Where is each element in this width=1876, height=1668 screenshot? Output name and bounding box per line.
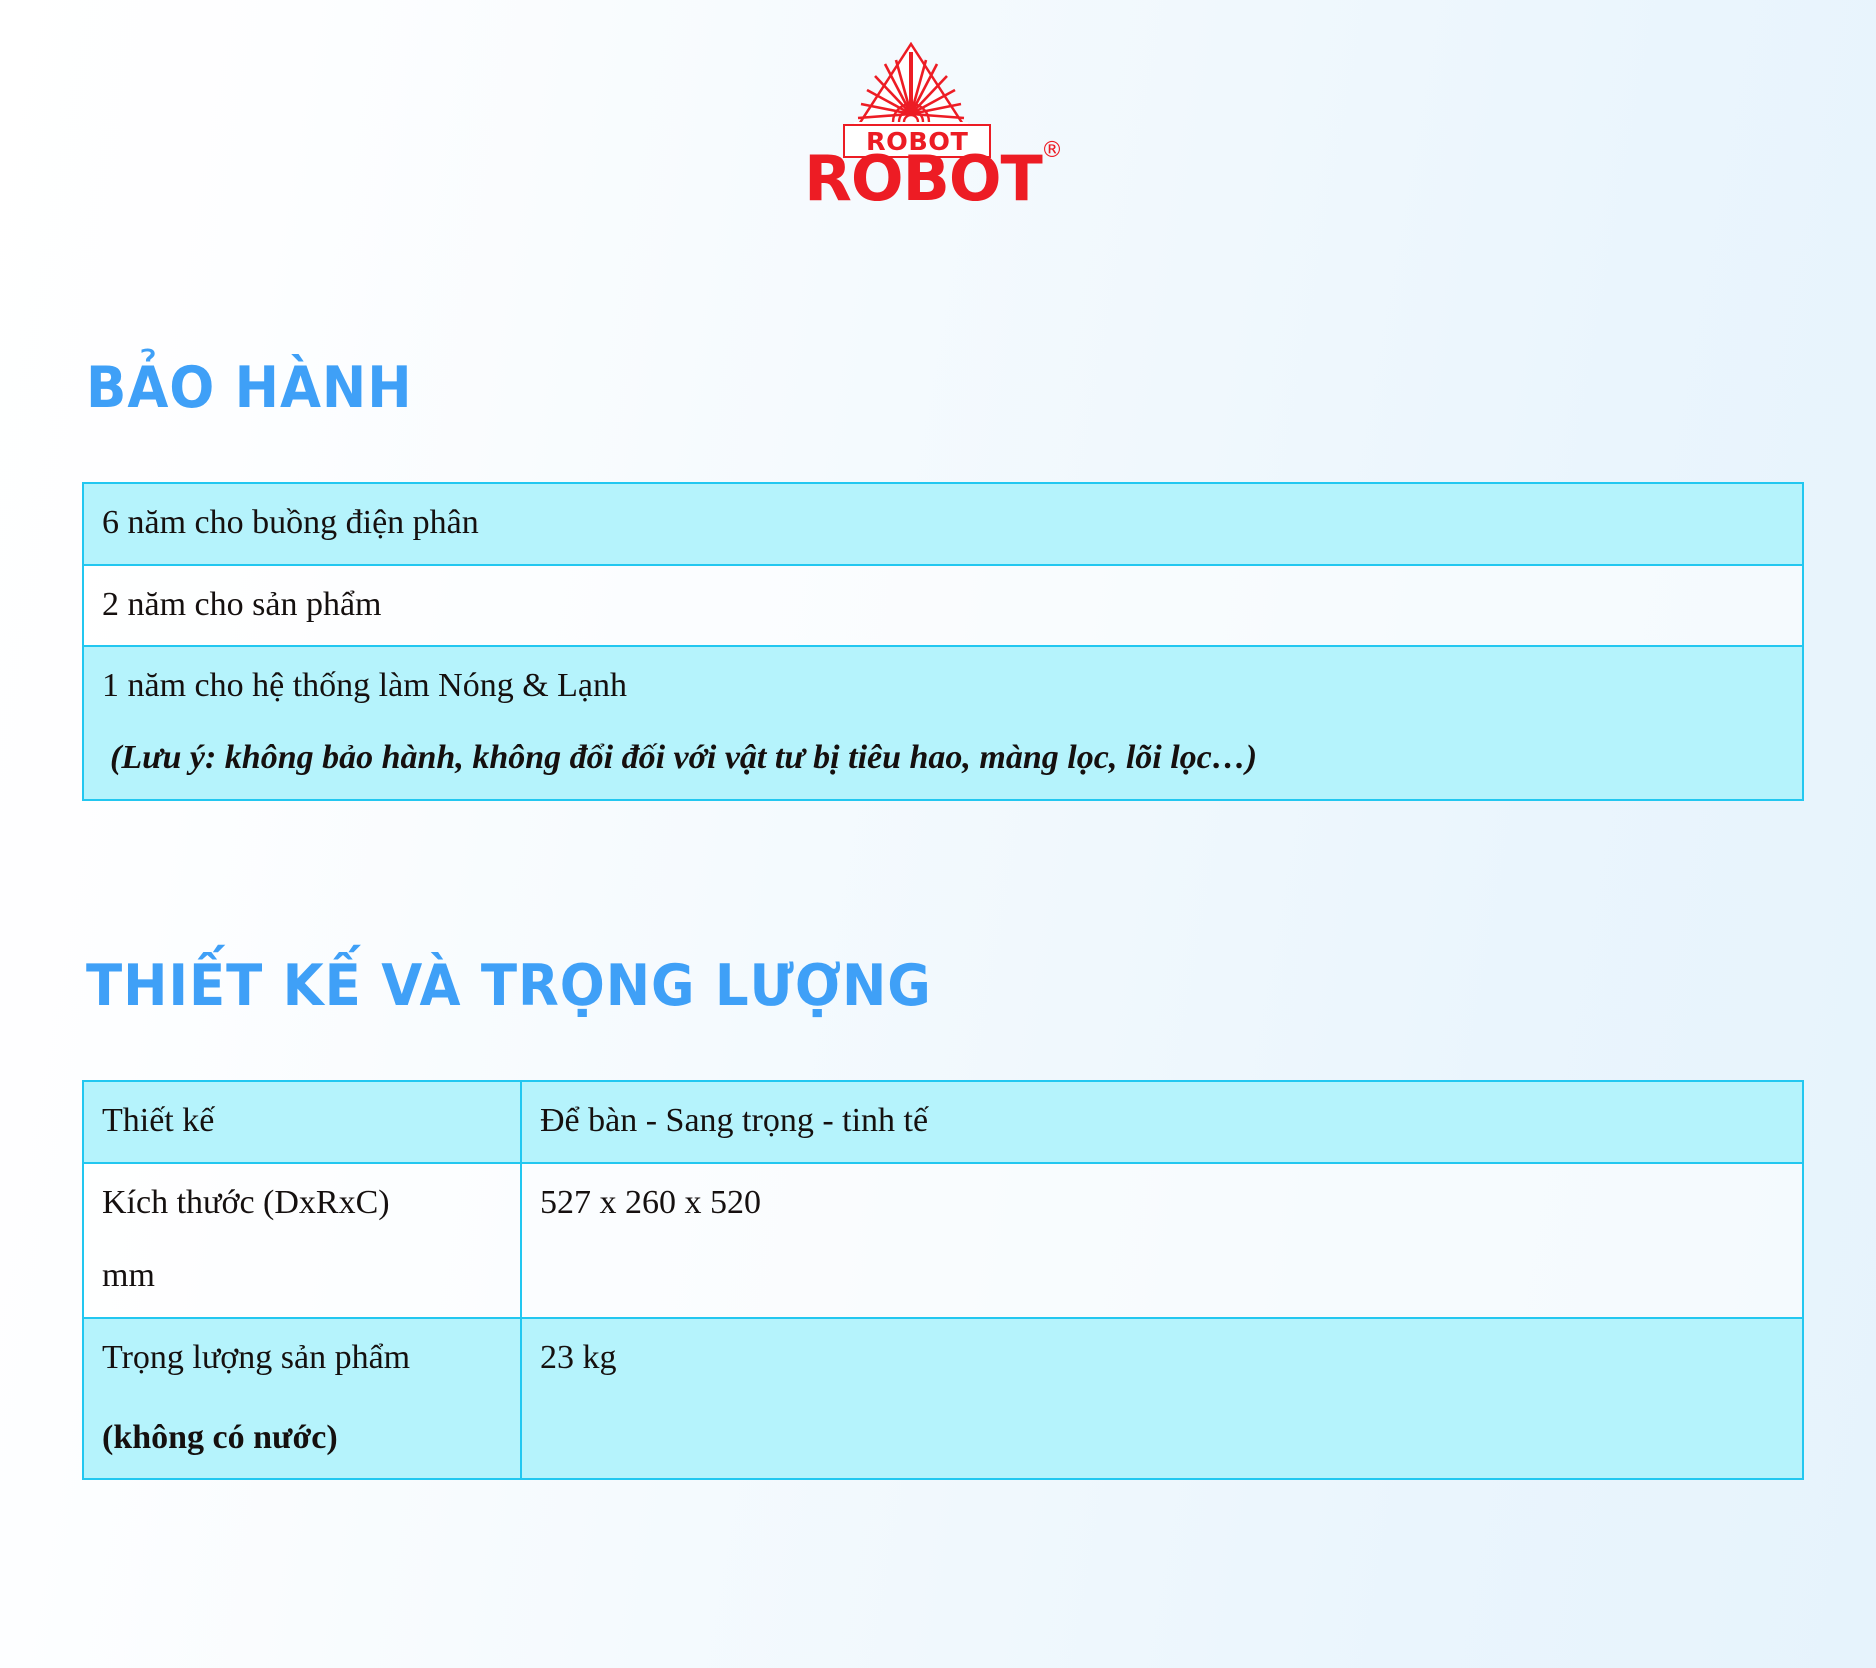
warranty-text: 1 năm cho hệ thống làm Nóng & Lạnh bbox=[102, 667, 627, 704]
warranty-text: 2 năm cho sản phẩm bbox=[102, 586, 382, 623]
table-row: Thiết kế Để bàn - Sang trọng - tinh tế bbox=[83, 1081, 1803, 1163]
spec-value-text: 527 x 260 x 520 bbox=[540, 1184, 761, 1221]
registered-trademark-icon: ® bbox=[1041, 140, 1063, 162]
table-row: 6 năm cho buồng điện phân bbox=[83, 483, 1803, 565]
warranty-text: 6 năm cho buồng điện phân bbox=[102, 504, 479, 541]
warranty-cell-hotcold: 1 năm cho hệ thống làm Nóng & Lạnh (Lưu … bbox=[83, 646, 1803, 799]
spec-value-text: Để bàn - Sang trọng - tinh tế bbox=[540, 1102, 928, 1139]
spec-value-weight: 23 kg bbox=[521, 1318, 1803, 1479]
spec-label-design: Thiết kế bbox=[83, 1081, 521, 1163]
logo-wordmark: ROBOT bbox=[773, 148, 1073, 210]
spec-label-text: Thiết kế bbox=[102, 1102, 214, 1139]
table-row: 1 năm cho hệ thống làm Nóng & Lạnh (Lưu … bbox=[83, 646, 1803, 799]
spec-label-weight: Trọng lượng sản phẩm (không có nước) bbox=[83, 1318, 521, 1479]
warranty-cell-electrolysis: 6 năm cho buồng điện phân bbox=[83, 483, 1803, 565]
design-weight-table: Thiết kế Để bàn - Sang trọng - tinh tế K… bbox=[82, 1080, 1804, 1480]
robot-sunburst-triangle-icon bbox=[851, 42, 971, 134]
page-title-design-weight: THIẾT KẾ VÀ TRỌNG LƯỢNG bbox=[86, 958, 932, 1015]
spec-label-dimensions: Kích thước (DxRxC) mm bbox=[83, 1163, 521, 1318]
page-title-warranty: BẢO HÀNH bbox=[86, 360, 413, 417]
brand-logo: ROBOT ROBOT ® bbox=[0, 42, 1876, 202]
table-row: Trọng lượng sản phẩm (không có nước) 23 … bbox=[83, 1318, 1803, 1479]
warranty-table: 6 năm cho buồng điện phân 2 năm cho sản … bbox=[82, 482, 1804, 801]
spec-value-text: 23 kg bbox=[540, 1339, 617, 1376]
table-row: Kích thước (DxRxC) mm 527 x 260 x 520 bbox=[83, 1163, 1803, 1318]
warranty-cell-product: 2 năm cho sản phẩm bbox=[83, 565, 1803, 647]
spec-label-unit: mm bbox=[102, 1251, 502, 1301]
warranty-disclaimer-note: (Lưu ý: không bảo hành, không đổi đối vớ… bbox=[102, 733, 1784, 783]
spec-value-dimensions: 527 x 260 x 520 bbox=[521, 1163, 1803, 1318]
spec-label-qualifier: (không có nước) bbox=[102, 1413, 502, 1463]
spec-label-text: Trọng lượng sản phẩm bbox=[102, 1339, 410, 1376]
table-row: 2 năm cho sản phẩm bbox=[83, 565, 1803, 647]
spec-value-design: Để bàn - Sang trọng - tinh tế bbox=[521, 1081, 1803, 1163]
spec-label-text: Kích thước (DxRxC) bbox=[102, 1184, 390, 1221]
